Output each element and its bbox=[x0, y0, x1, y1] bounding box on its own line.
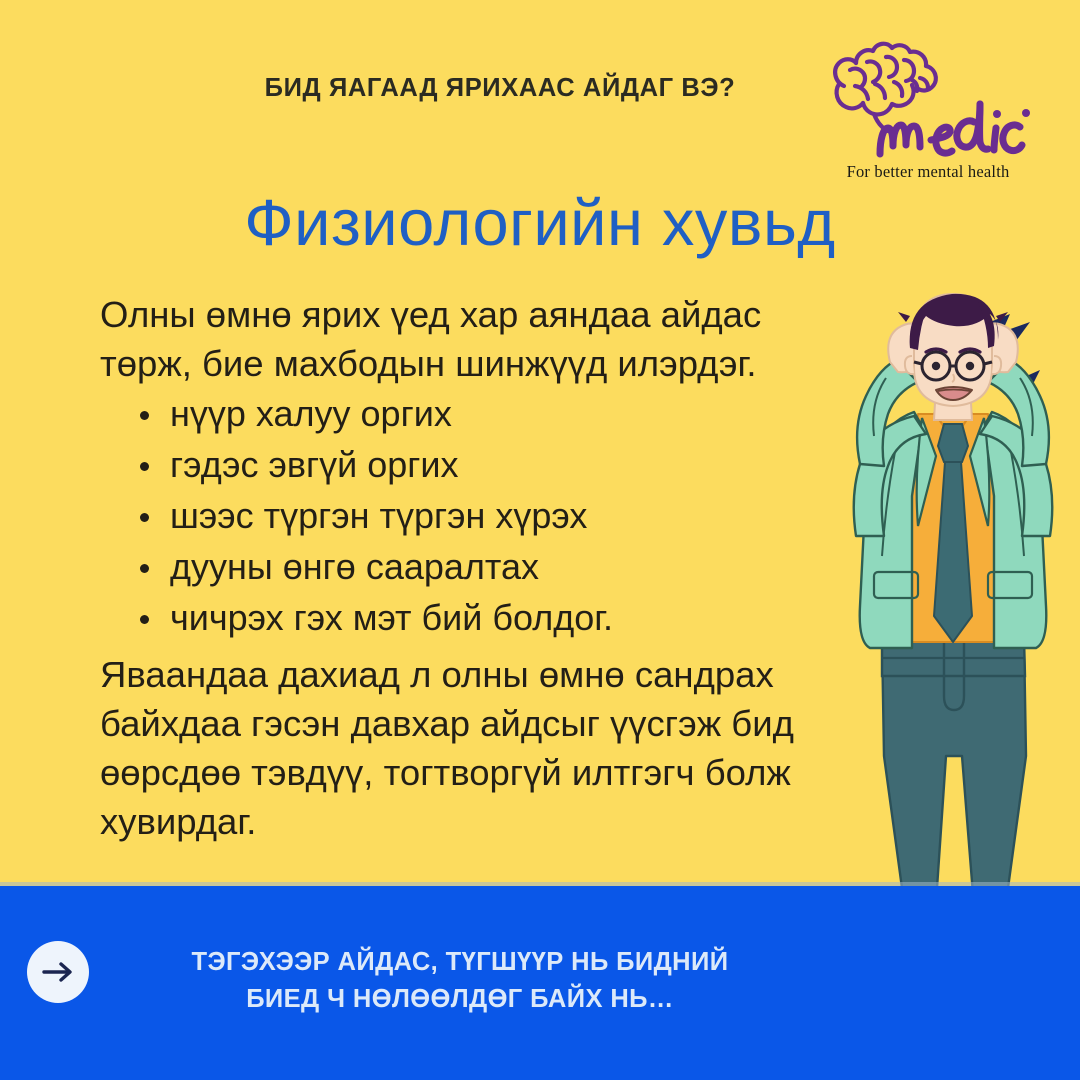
footer-caption-line-2: БИЕД Ч НӨЛӨӨЛДӨГ БАЙХ НЬ… bbox=[130, 981, 790, 1018]
outro-line-2: байхдаа гэсэн давхар айдсыг үүсгэж бид bbox=[100, 699, 860, 748]
next-slide-button[interactable] bbox=[27, 941, 89, 1003]
intro-paragraph: Олны өмнө ярих үед хар аяндаа айдас төрж… bbox=[100, 290, 860, 388]
brand-logo: For better mental health bbox=[812, 40, 1044, 180]
outro-line-1: Яваандаа дахиад л олны өмнө сандрах bbox=[100, 650, 860, 699]
logo-tagline: For better mental health bbox=[812, 162, 1044, 182]
outro-line-3: өөрсдөө тэвдүү, тогтворгүй илтгэгч болж bbox=[100, 748, 860, 797]
list-item: гэдэс эвгүй оргих bbox=[138, 439, 838, 490]
page-title: Физиологийн хувьд bbox=[0, 185, 1080, 260]
medic-wordmark bbox=[874, 98, 1040, 166]
list-item: нүүр халуу оргих bbox=[138, 388, 838, 439]
outro-paragraph: Яваандаа дахиад л олны өмнө сандрах байх… bbox=[100, 650, 860, 846]
intro-line-1: Олны өмнө ярих үед хар аяндаа айдас bbox=[100, 290, 860, 339]
footer-caption: ТЭГЭХЭЭР АЙДАС, ТҮГШҮҮР НЬ БИДНИЙ БИЕД Ч… bbox=[130, 944, 790, 1018]
list-item: шээс түргэн түргэн хүрэх bbox=[138, 490, 838, 541]
footer-caption-line-1: ТЭГЭХЭЭР АЙДАС, ТҮГШҮҮР НЬ БИДНИЙ bbox=[130, 944, 790, 981]
outro-line-4: хувирдаг. bbox=[100, 797, 860, 846]
symptom-list: нүүр халуу оргих гэдэс эвгүй оргих шээс … bbox=[138, 388, 838, 643]
list-item: дууны өнгө сааралтах bbox=[138, 541, 838, 592]
list-item: чичрэх гэх мэт бий болдог. bbox=[138, 592, 838, 643]
head bbox=[898, 294, 1008, 406]
infographic-slide: БИД ЯАГААД ЯРИХААС АЙДАГ ВЭ? bbox=[0, 0, 1080, 1080]
intro-line-2: төрж, бие махбодын шинжүүд илэрдэг. bbox=[100, 339, 860, 388]
arrow-right-icon bbox=[41, 960, 75, 984]
